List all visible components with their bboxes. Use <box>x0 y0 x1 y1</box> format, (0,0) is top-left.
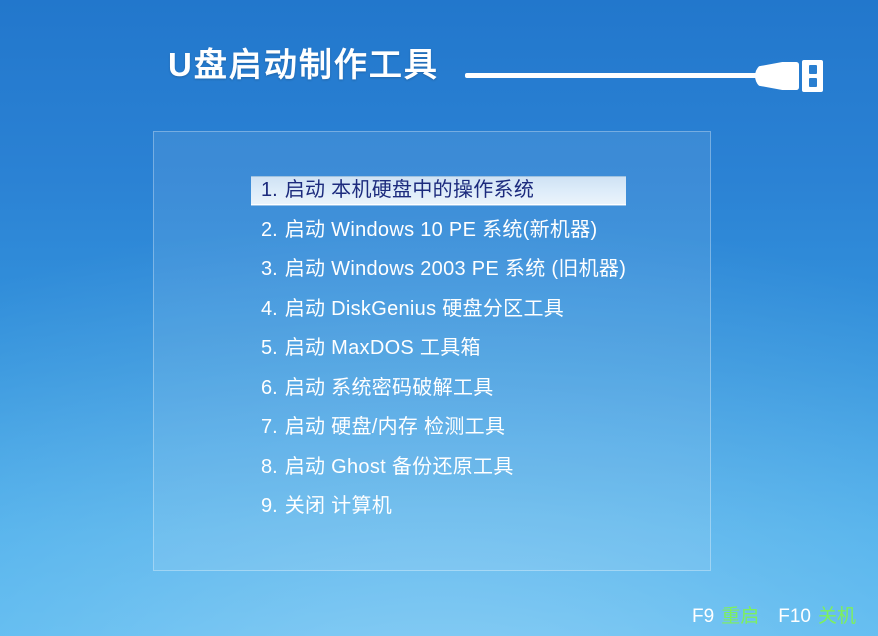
menu-item-2[interactable]: 2. 启动 Windows 10 PE 系统(新机器) <box>251 216 671 245</box>
menu-item-index: 3. <box>261 255 278 284</box>
menu-item-label: 启动 系统密码破解工具 <box>285 374 494 403</box>
usb-cable-line <box>465 73 763 78</box>
menu-item-label: 关闭 计算机 <box>285 492 392 521</box>
usb-pin-bottom <box>809 78 817 87</box>
menu-item-1[interactable]: 1. 启动 本机硬盘中的操作系统 <box>251 176 626 205</box>
menu-item-9[interactable]: 9. 关闭 计算机 <box>251 492 671 521</box>
menu-item-6[interactable]: 6. 启动 系统密码破解工具 <box>251 374 671 403</box>
menu-item-label: 启动 Windows 10 PE 系统(新机器) <box>285 216 598 245</box>
usb-connector-icon <box>755 58 823 94</box>
menu-item-index: 6. <box>261 374 278 403</box>
menu-item-label: 启动 Windows 2003 PE 系统 (旧机器) <box>285 255 627 284</box>
usb-pin-top <box>809 65 817 74</box>
menu-item-7[interactable]: 7. 启动 硬盘/内存 检测工具 <box>251 413 671 442</box>
menu-item-index: 9. <box>261 492 278 521</box>
menu-item-index: 8. <box>261 453 278 482</box>
menu-item-index: 7. <box>261 413 278 442</box>
menu-item-index: 1. <box>261 176 278 205</box>
menu-panel: 1. 启动 本机硬盘中的操作系统 2. 启动 Windows 10 PE 系统(… <box>153 131 711 571</box>
footer-hotkeys: F9 重启 F10 关机 <box>692 605 856 629</box>
menu-item-label: 启动 DiskGenius 硬盘分区工具 <box>285 295 564 324</box>
hotkey-f10-action[interactable]: 关机 <box>818 605 856 629</box>
menu-item-4[interactable]: 4. 启动 DiskGenius 硬盘分区工具 <box>251 295 671 324</box>
menu-item-label: 启动 MaxDOS 工具箱 <box>285 334 481 363</box>
boot-menu-list: 1. 启动 本机硬盘中的操作系统 2. 启动 Windows 10 PE 系统(… <box>251 176 671 532</box>
header: U盘启动制作工具 <box>0 0 878 120</box>
page-title: U盘启动制作工具 <box>168 45 439 85</box>
hotkey-f9-action[interactable]: 重启 <box>721 605 759 629</box>
menu-item-index: 4. <box>261 295 278 324</box>
menu-item-8[interactable]: 8. 启动 Ghost 备份还原工具 <box>251 453 671 482</box>
menu-item-label: 启动 Ghost 备份还原工具 <box>285 453 514 482</box>
hotkey-f10-key: F10 <box>778 605 811 629</box>
boot-menu-screen: U盘启动制作工具 1. 启动 本机硬盘中的操作系统 2. 启动 Windows … <box>0 0 878 636</box>
menu-item-index: 2. <box>261 216 278 245</box>
menu-item-5[interactable]: 5. 启动 MaxDOS 工具箱 <box>251 334 671 363</box>
menu-item-label: 启动 硬盘/内存 检测工具 <box>285 413 506 442</box>
hotkey-f9-key: F9 <box>692 605 714 629</box>
usb-plug-body <box>755 62 799 90</box>
menu-item-3[interactable]: 3. 启动 Windows 2003 PE 系统 (旧机器) <box>251 255 671 284</box>
menu-item-index: 5. <box>261 334 278 363</box>
usb-plug-head <box>802 60 823 92</box>
menu-item-label: 启动 本机硬盘中的操作系统 <box>285 176 534 205</box>
